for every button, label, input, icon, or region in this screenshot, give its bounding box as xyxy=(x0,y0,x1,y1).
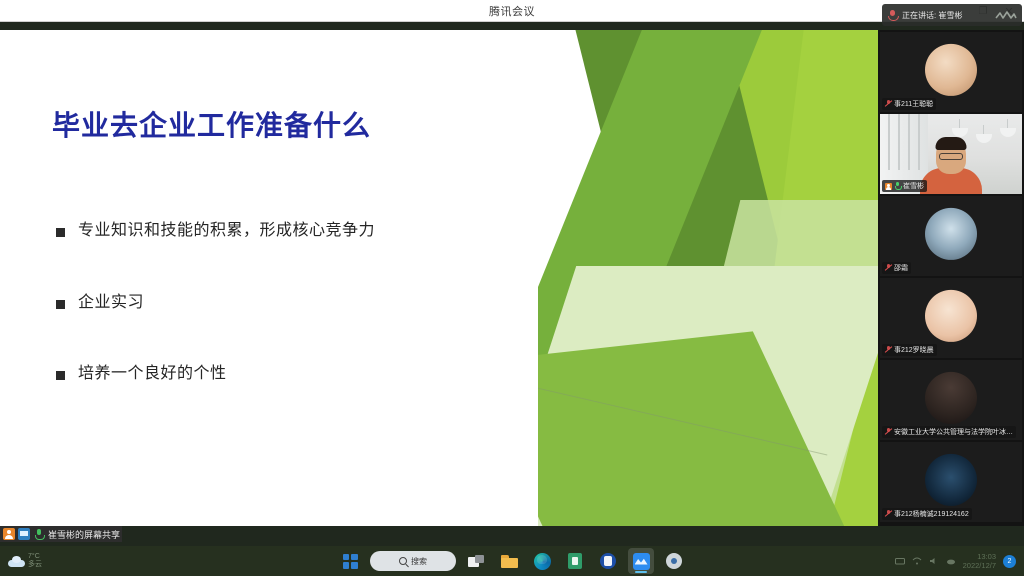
app-icon xyxy=(600,553,616,569)
start-button[interactable] xyxy=(337,548,363,574)
system-tray[interactable]: 13:03 2022/12/7 2 xyxy=(824,552,1024,570)
shared-screen-area[interactable]: 毕业去企业工作准备什么 专业知识和技能的积累，形成核心竞争力 企业实习 培养一个… xyxy=(0,30,878,526)
slide-title: 毕业去企业工作准备什么 xyxy=(52,104,371,144)
window-title-bar: 腾讯会议 — ❐ ✕ xyxy=(0,0,1024,22)
list-item: 培养一个良好的个性 xyxy=(56,363,616,385)
settings-button[interactable] xyxy=(661,548,687,574)
microphone-icon xyxy=(894,182,901,190)
microphone-muted-icon xyxy=(885,346,892,354)
weather-condition: 多云 xyxy=(28,561,42,569)
participant-name: 安徽工业大学公共管理与法学院叶冰… xyxy=(894,427,1013,437)
list-item: 企业实习 xyxy=(56,292,616,314)
search-icon xyxy=(399,557,407,565)
participant-name: 邵霜 xyxy=(894,263,908,273)
audio-waveform-icon xyxy=(995,9,1017,21)
participant-name-badge: 崔雪彬 xyxy=(882,180,927,192)
participant-name-badge: 安徽工业大学公共管理与法学院叶冰… xyxy=(882,426,1016,438)
participant-tile[interactable]: 事212罗晓晨 xyxy=(880,278,1022,358)
microphone-muted-icon xyxy=(887,10,898,21)
notification-badge[interactable]: 2 xyxy=(1003,555,1016,568)
microphone-muted-icon xyxy=(885,510,892,518)
participant-name-badge: 事212杨楠诚219124162 xyxy=(882,508,972,520)
participant-tile[interactable]: 安徽工业大学公共管理与法学院叶冰… xyxy=(880,360,1022,440)
microphone-muted-icon xyxy=(885,428,892,436)
participant-name: 事211王聪聪 xyxy=(894,99,933,109)
bullet-text: 培养一个良好的个性 xyxy=(78,363,227,385)
avatar xyxy=(925,208,977,260)
windows-taskbar[interactable]: 7°C 多云 搜索 xyxy=(0,546,1024,576)
participant-name: 事212罗晓晨 xyxy=(894,345,934,355)
screen-share-icon xyxy=(18,528,30,540)
cloud-sync-icon[interactable] xyxy=(946,556,956,566)
windows-logo-icon xyxy=(343,554,358,569)
task-view-icon xyxy=(468,555,484,568)
speaking-indicator: 正在讲话: 崔雪彬 xyxy=(882,4,1022,26)
participant-tile[interactable]: 邵霜 xyxy=(880,196,1022,276)
bullet-text: 专业知识和技能的积累，形成核心竞争力 xyxy=(78,220,375,242)
edge-icon xyxy=(534,553,551,570)
microphone-icon xyxy=(33,528,45,540)
participant-tile[interactable]: 事212杨楠诚219124162 xyxy=(880,442,1022,522)
microphone-muted-icon xyxy=(885,100,892,108)
bullet-square-icon xyxy=(56,300,65,309)
participant-name: 崔雪彬 xyxy=(903,181,924,191)
speaking-label: 正在讲话: 崔雪彬 xyxy=(902,10,991,21)
microsoft-edge-button[interactable] xyxy=(529,548,555,574)
microphone-muted-icon xyxy=(885,264,892,272)
weather-temp: 7°C xyxy=(28,553,42,561)
window-title: 腾讯会议 xyxy=(489,3,535,19)
avatar xyxy=(925,44,977,96)
participant-filmstrip[interactable]: 事211王聪聪 xyxy=(878,30,1024,526)
tencent-meeting-window: 腾讯会议 — ❐ ✕ 毕业去企业工作准备什么 专业知识和技能的积累，形成核心竞争… xyxy=(0,0,1024,576)
folder-icon xyxy=(501,555,518,568)
avatar xyxy=(925,372,977,424)
store-icon xyxy=(568,553,582,569)
gear-icon xyxy=(666,553,682,569)
slide-bullet-list: 专业知识和技能的积累，形成核心竞争力 企业实习 培养一个良好的个性 xyxy=(56,220,616,435)
file-explorer-button[interactable] xyxy=(496,548,522,574)
search-box[interactable]: 搜索 xyxy=(370,551,456,571)
screen-share-label: 崔雪彬的屏幕共享 xyxy=(48,528,120,541)
participant-tile[interactable]: 事211王聪聪 xyxy=(880,32,1022,112)
avatar xyxy=(925,290,977,342)
network-icon[interactable] xyxy=(912,556,922,566)
clock-time: 13:03 xyxy=(963,552,996,561)
bullet-square-icon xyxy=(56,228,65,237)
host-icon xyxy=(885,183,892,190)
clock[interactable]: 13:03 2022/12/7 xyxy=(963,552,996,570)
weather-widget[interactable]: 7°C 多云 xyxy=(0,553,200,569)
bullet-text: 企业实习 xyxy=(78,292,144,314)
pinned-app-button[interactable] xyxy=(595,548,621,574)
host-icon xyxy=(3,528,15,540)
volume-icon[interactable] xyxy=(929,556,939,566)
avatar xyxy=(925,454,977,506)
tencent-meeting-icon xyxy=(633,553,650,570)
keyboard-icon[interactable] xyxy=(895,556,905,566)
task-view-button[interactable] xyxy=(463,548,489,574)
taskbar-app-buttons: 搜索 xyxy=(200,548,824,574)
participant-name-badge: 事212罗晓晨 xyxy=(882,344,937,356)
clock-date: 2022/12/7 xyxy=(963,561,996,570)
bullet-square-icon xyxy=(56,371,65,380)
participant-name-badge: 事211王聪聪 xyxy=(882,98,936,110)
list-item: 专业知识和技能的积累，形成核心竞争力 xyxy=(56,220,616,242)
cloud-icon xyxy=(8,556,25,567)
microsoft-store-button[interactable] xyxy=(562,548,588,574)
participant-name-badge: 邵霜 xyxy=(882,262,911,274)
participant-tile-active-speaker[interactable]: 崔雪彬 xyxy=(880,114,1022,194)
search-label: 搜索 xyxy=(411,556,427,567)
presentation-slide: 毕业去企业工作准备什么 专业知识和技能的积累，形成核心竞争力 企业实习 培养一个… xyxy=(0,30,878,526)
participant-name: 事212杨楠诚219124162 xyxy=(894,509,969,519)
screen-share-status-bar[interactable]: 崔雪彬的屏幕共享 xyxy=(0,526,122,542)
tencent-meeting-button[interactable] xyxy=(628,548,654,574)
